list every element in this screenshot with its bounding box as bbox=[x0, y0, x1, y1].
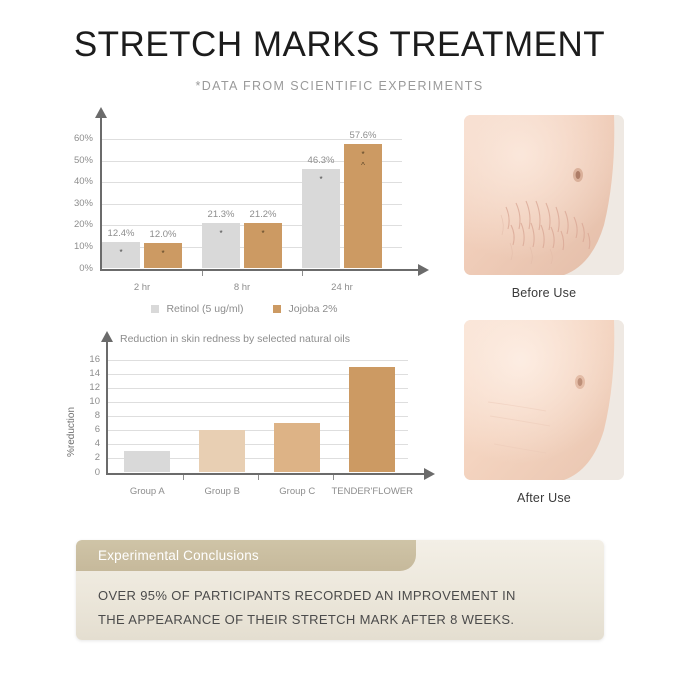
chart2-y-axis-arrow bbox=[101, 331, 113, 342]
chart1-xtick-label: 2 hr bbox=[102, 282, 182, 293]
chart2-bar bbox=[274, 423, 320, 472]
chart1-ytick-label: 30% bbox=[62, 198, 93, 209]
chart2-ytick-label: 2 bbox=[76, 452, 100, 463]
chart2-xtick-mark bbox=[183, 475, 184, 480]
before-photo-caption: Before Use bbox=[464, 286, 624, 300]
conclusions-banner: Experimental Conclusions bbox=[76, 540, 416, 571]
page-title: STRETCH MARKS TREATMENT bbox=[0, 26, 679, 65]
before-photo bbox=[464, 115, 624, 275]
chart1-bar-value-label: 46.3% bbox=[293, 155, 349, 166]
chart1-ytick-label: 50% bbox=[62, 155, 93, 166]
conclusions-line-2: THE APPEARANCE OF THEIR STRETCH MARK AFT… bbox=[98, 608, 590, 632]
after-photo-image bbox=[464, 320, 624, 480]
chart-skin-redness-reduction: Reduction in skin redness by selected na… bbox=[62, 329, 427, 514]
chart1-significance-marker: ^ bbox=[344, 162, 382, 170]
chart1-x-axis bbox=[100, 269, 418, 271]
chart1-ytick-label: 0% bbox=[62, 263, 93, 274]
chart2-ytick-label: 6 bbox=[76, 424, 100, 435]
chart2-gridline bbox=[108, 360, 408, 361]
chart2-xtick-mark bbox=[258, 475, 259, 480]
before-photo-image bbox=[464, 115, 624, 275]
chart2-ytick-label: 0 bbox=[76, 467, 100, 478]
chart1-legend-label: Jojoba 2% bbox=[288, 303, 337, 315]
chart2-ytick-label: 10 bbox=[76, 396, 100, 407]
chart1-significance-marker: * bbox=[144, 250, 182, 258]
chart1-ytick-label: 40% bbox=[62, 176, 93, 187]
conclusions-title: Experimental Conclusions bbox=[98, 548, 259, 563]
chart1-legend-entry: Retinol (5 ug/ml) bbox=[151, 303, 243, 315]
chart1-ytick-label: 20% bbox=[62, 219, 93, 230]
chart1-plot-area: 0%10%20%30%40%50%60%12.4%*12.0%*2 hr21.3… bbox=[62, 107, 427, 297]
chart2-bar bbox=[349, 367, 395, 473]
chart2-bar bbox=[124, 451, 170, 472]
page-header: STRETCH MARKS TREATMENT *DATA FROM SCIEN… bbox=[0, 0, 679, 93]
after-photo-caption: After Use bbox=[464, 491, 624, 505]
chart1-legend-swatch bbox=[273, 305, 281, 313]
chart1-xtick-mark bbox=[202, 271, 203, 276]
chart2-ytick-label: 8 bbox=[76, 410, 100, 421]
chart1-legend-label: Retinol (5 ug/ml) bbox=[166, 303, 243, 315]
chart1-legend-swatch bbox=[151, 305, 159, 313]
chart1-ytick-label: 10% bbox=[62, 241, 93, 252]
chart1-bar-value-label: 12.0% bbox=[135, 229, 191, 240]
after-photo bbox=[464, 320, 624, 480]
chart1-significance-marker: * bbox=[102, 249, 140, 257]
chart-retinol-vs-jojoba: 0%10%20%30%40%50%60%12.4%*12.0%*2 hr21.3… bbox=[62, 107, 427, 322]
chart1-xtick-label: 24 hr bbox=[302, 282, 382, 293]
chart2-bar bbox=[199, 430, 245, 472]
chart2-x-axis-arrow bbox=[424, 468, 435, 480]
chart1-legend: Retinol (5 ug/ml)Jojoba 2% bbox=[62, 303, 427, 315]
page-subtitle: *DATA FROM SCIENTIFIC EXPERIMENTS bbox=[0, 79, 679, 93]
chart1-y-axis-arrow bbox=[95, 107, 107, 118]
experimental-conclusions-box: Experimental Conclusions OVER 95% OF PAR… bbox=[76, 540, 604, 640]
content-area: 0%10%20%30%40%50%60%12.4%*12.0%*2 hr21.3… bbox=[0, 107, 679, 512]
chart1-bar-value-label: 57.6% bbox=[335, 130, 391, 141]
chart2-xtick-label: TENDER'FLOWER bbox=[327, 486, 417, 497]
chart2-x-axis bbox=[106, 473, 424, 475]
chart1-significance-marker: * bbox=[302, 176, 340, 184]
chart2-xtick-mark bbox=[333, 475, 334, 480]
chart1-x-axis-arrow bbox=[418, 264, 429, 276]
chart1-ytick-label: 60% bbox=[62, 133, 93, 144]
chart2-plot-area: 0246810121416Group AGroup BGroup CTENDER… bbox=[62, 329, 427, 514]
chart1-significance-marker: * bbox=[344, 151, 382, 159]
conclusions-line-1: OVER 95% OF PARTICIPANTS RECORDED AN IMP… bbox=[98, 584, 590, 608]
chart1-legend-entry: Jojoba 2% bbox=[273, 303, 337, 315]
chart2-ytick-label: 16 bbox=[76, 354, 100, 365]
before-photo-block: Before Use bbox=[464, 115, 624, 300]
chart2-ytick-label: 12 bbox=[76, 382, 100, 393]
chart1-xtick-label: 8 hr bbox=[202, 282, 282, 293]
after-photo-block: After Use bbox=[464, 320, 624, 505]
chart1-significance-marker: * bbox=[244, 230, 282, 238]
chart1-xtick-mark bbox=[302, 271, 303, 276]
chart2-ytick-label: 4 bbox=[76, 438, 100, 449]
chart1-significance-marker: * bbox=[202, 230, 240, 238]
conclusions-body: OVER 95% OF PARTICIPANTS RECORDED AN IMP… bbox=[98, 584, 590, 632]
chart1-bar-value-label: 21.2% bbox=[235, 209, 291, 220]
chart2-ytick-label: 14 bbox=[76, 368, 100, 379]
